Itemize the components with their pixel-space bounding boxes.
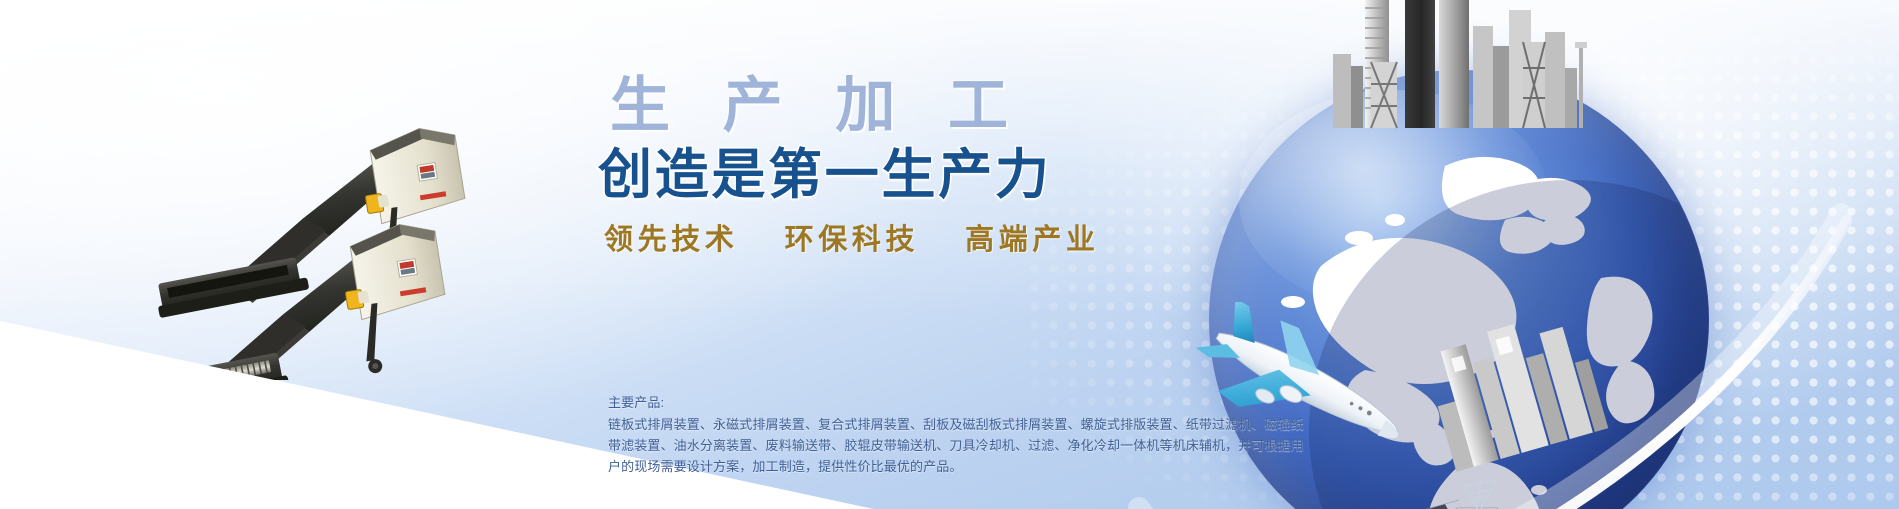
tagline-list: 领先技术 环保科技 高端产业 bbox=[604, 216, 1328, 258]
product-description-text: 链板式排屑装置、永磁式排屑装置、复合式排屑装置、刮板及磁刮板式排屑装置、螺旋式排… bbox=[608, 414, 1308, 477]
tagline-item-1: 环保科技 bbox=[785, 216, 920, 258]
satellite-graphic bbox=[1359, 456, 1609, 509]
tagline-item-2: 高端产业 bbox=[965, 216, 1100, 258]
chip-conveyor-machines-graphic bbox=[150, 120, 570, 380]
headline-block: 生 产 加 工 创造是第一生产力 领先技术 环保科技 高端产业 bbox=[598, 74, 1328, 258]
city-skyline-graphic bbox=[1327, 0, 1627, 138]
product-description: 主要产品: 链板式排屑装置、永磁式排屑装置、复合式排屑装置、刮板及磁刮板式排屑装… bbox=[608, 392, 1308, 477]
page-title: 生 产 加 工 bbox=[610, 74, 1328, 137]
tagline-item-0: 领先技术 bbox=[604, 216, 739, 258]
city-skyline-secondary-graphic bbox=[1437, 318, 1627, 478]
product-description-lead: 主要产品: bbox=[608, 392, 1308, 413]
subtitle: 创造是第一生产力 bbox=[598, 147, 1328, 204]
background-white-wedge-soft bbox=[0, 356, 570, 509]
promo-banner: 生 产 加 工 创造是第一生产力 领先技术 环保科技 高端产业 主要产品: 链板… bbox=[0, 0, 1899, 509]
